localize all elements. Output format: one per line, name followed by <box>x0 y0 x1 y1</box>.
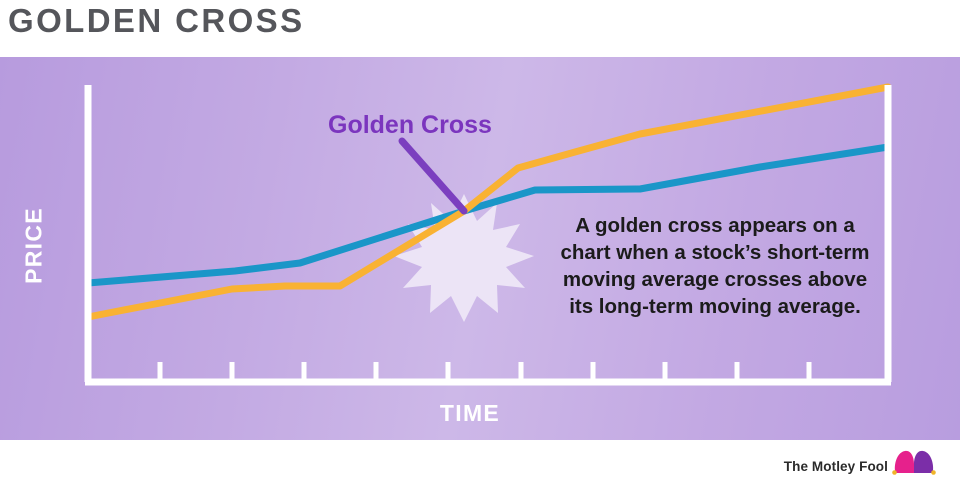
chart-panel: PRICE TIME Golden Cross A golden cross a… <box>0 57 960 440</box>
golden-cross-annotation-label: Golden Cross <box>328 111 492 140</box>
jester-hat-icon <box>892 449 936 475</box>
logo-wordmark: The Motley Fool <box>784 459 888 474</box>
footer-bar: The Motley Fool <box>0 440 960 480</box>
description-text: A golden cross appears on a chart when a… <box>556 212 874 320</box>
x-axis-label: TIME <box>340 400 600 427</box>
title-bar: GOLDEN CROSS <box>0 0 960 57</box>
motley-fool-logo: The Motley Fool <box>810 447 950 477</box>
infographic-root: GOLDEN CROSS <box>0 0 960 480</box>
annotation-pointer-line <box>402 141 464 211</box>
y-axis-label: PRICE <box>21 186 48 306</box>
page-title: GOLDEN CROSS <box>8 2 305 40</box>
